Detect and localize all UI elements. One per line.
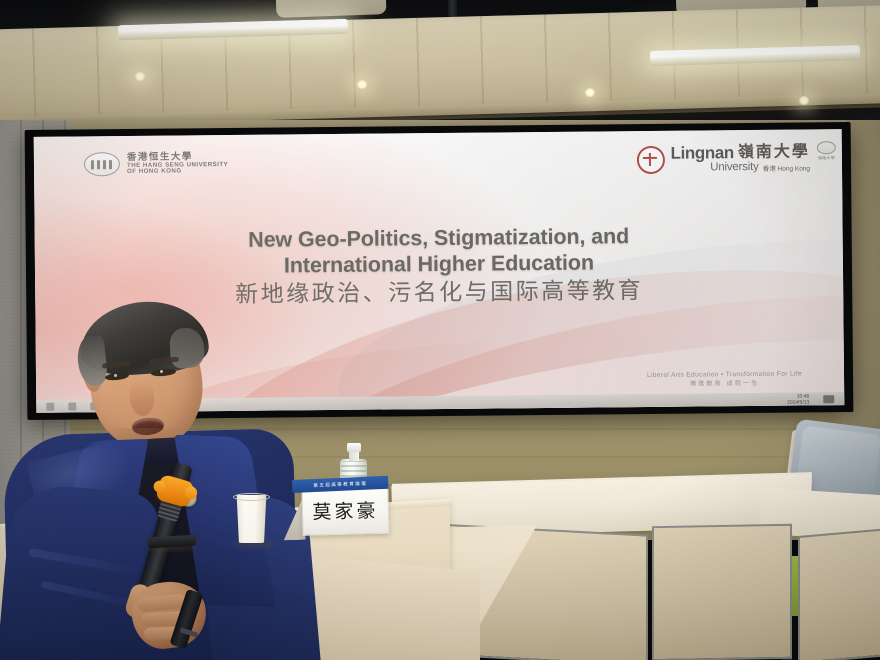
table-modesty-panel	[798, 528, 880, 660]
lingnan-circle-emblem-icon	[636, 146, 664, 174]
taskbar-clock[interactable]: 10:46 2024/5/13	[787, 393, 809, 405]
name-card-band-text: 第五屆高等教育論壇	[313, 480, 367, 488]
lingnan-wordmark: Lingnan	[670, 144, 733, 162]
table-modesty-panel	[652, 524, 792, 660]
conference-room-photo: 香港恒生大學 THE HANG SENG UNIVERSITY OF HONG …	[0, 0, 880, 660]
recessed-downlight	[356, 80, 368, 90]
recessed-downlight	[798, 96, 810, 106]
lingnan-chinese-name: 嶺南大學	[738, 144, 810, 161]
ceiling-soffit	[0, 0, 880, 132]
slide-corner-logo: 嶺南大學	[817, 141, 836, 161]
slide-title-block: New Geo-Politics, Stigmatization, and In…	[35, 221, 844, 311]
lingnan-logo-text: Lingnan 嶺南大學 University 香港 Hong Kong	[670, 143, 810, 174]
hsuhk-logo: 香港恒生大學 THE HANG SENG UNIVERSITY OF HONG …	[84, 151, 228, 176]
eye-highlight	[160, 370, 163, 373]
corner-ring-icon	[817, 141, 836, 154]
recessed-downlight	[584, 88, 596, 98]
bottle-cap	[347, 443, 361, 452]
recessed-downlight	[134, 72, 146, 82]
name-card-name: 莫家豪	[302, 496, 390, 525]
lingnan-university-word: University	[710, 162, 759, 174]
taskbar-clock-date: 2024/5/13	[787, 399, 809, 405]
paper-cup-rim	[233, 493, 270, 501]
speaker-person	[10, 300, 310, 660]
taskbar-tray-icon[interactable]	[823, 395, 834, 403]
paper-cup[interactable]	[235, 495, 268, 543]
lingnan-location: 香港 Hong Kong	[763, 166, 810, 173]
corner-logo-label: 嶺南大學	[817, 155, 836, 161]
hsuhk-english-line2: OF HONG KONG	[127, 168, 228, 175]
speaker-hair-side	[75, 335, 108, 388]
lingnan-subword-row: University 香港 Hong Kong	[671, 161, 810, 174]
eye-highlight	[114, 374, 117, 377]
slide-logo-row: 香港恒生大學 THE HANG SENG UNIVERSITY OF HONG …	[34, 139, 842, 199]
lingnan-wordmark-row: Lingnan 嶺南大學	[670, 143, 809, 161]
hsuhk-logo-text: 香港恒生大學 THE HANG SENG UNIVERSITY OF HONG …	[127, 152, 228, 176]
bottle-neck	[349, 451, 359, 461]
lingnan-logo: Lingnan 嶺南大學 University 香港 Hong Kong	[636, 143, 810, 174]
tagline-chinese: 博雅教育 成就一生	[647, 379, 802, 389]
hsuhk-oval-emblem-icon	[84, 152, 120, 176]
slide-tagline: Liberal Arts Education • Transformation …	[647, 371, 802, 389]
name-card: 第五屆高等教育論壇 莫家豪	[282, 486, 389, 541]
